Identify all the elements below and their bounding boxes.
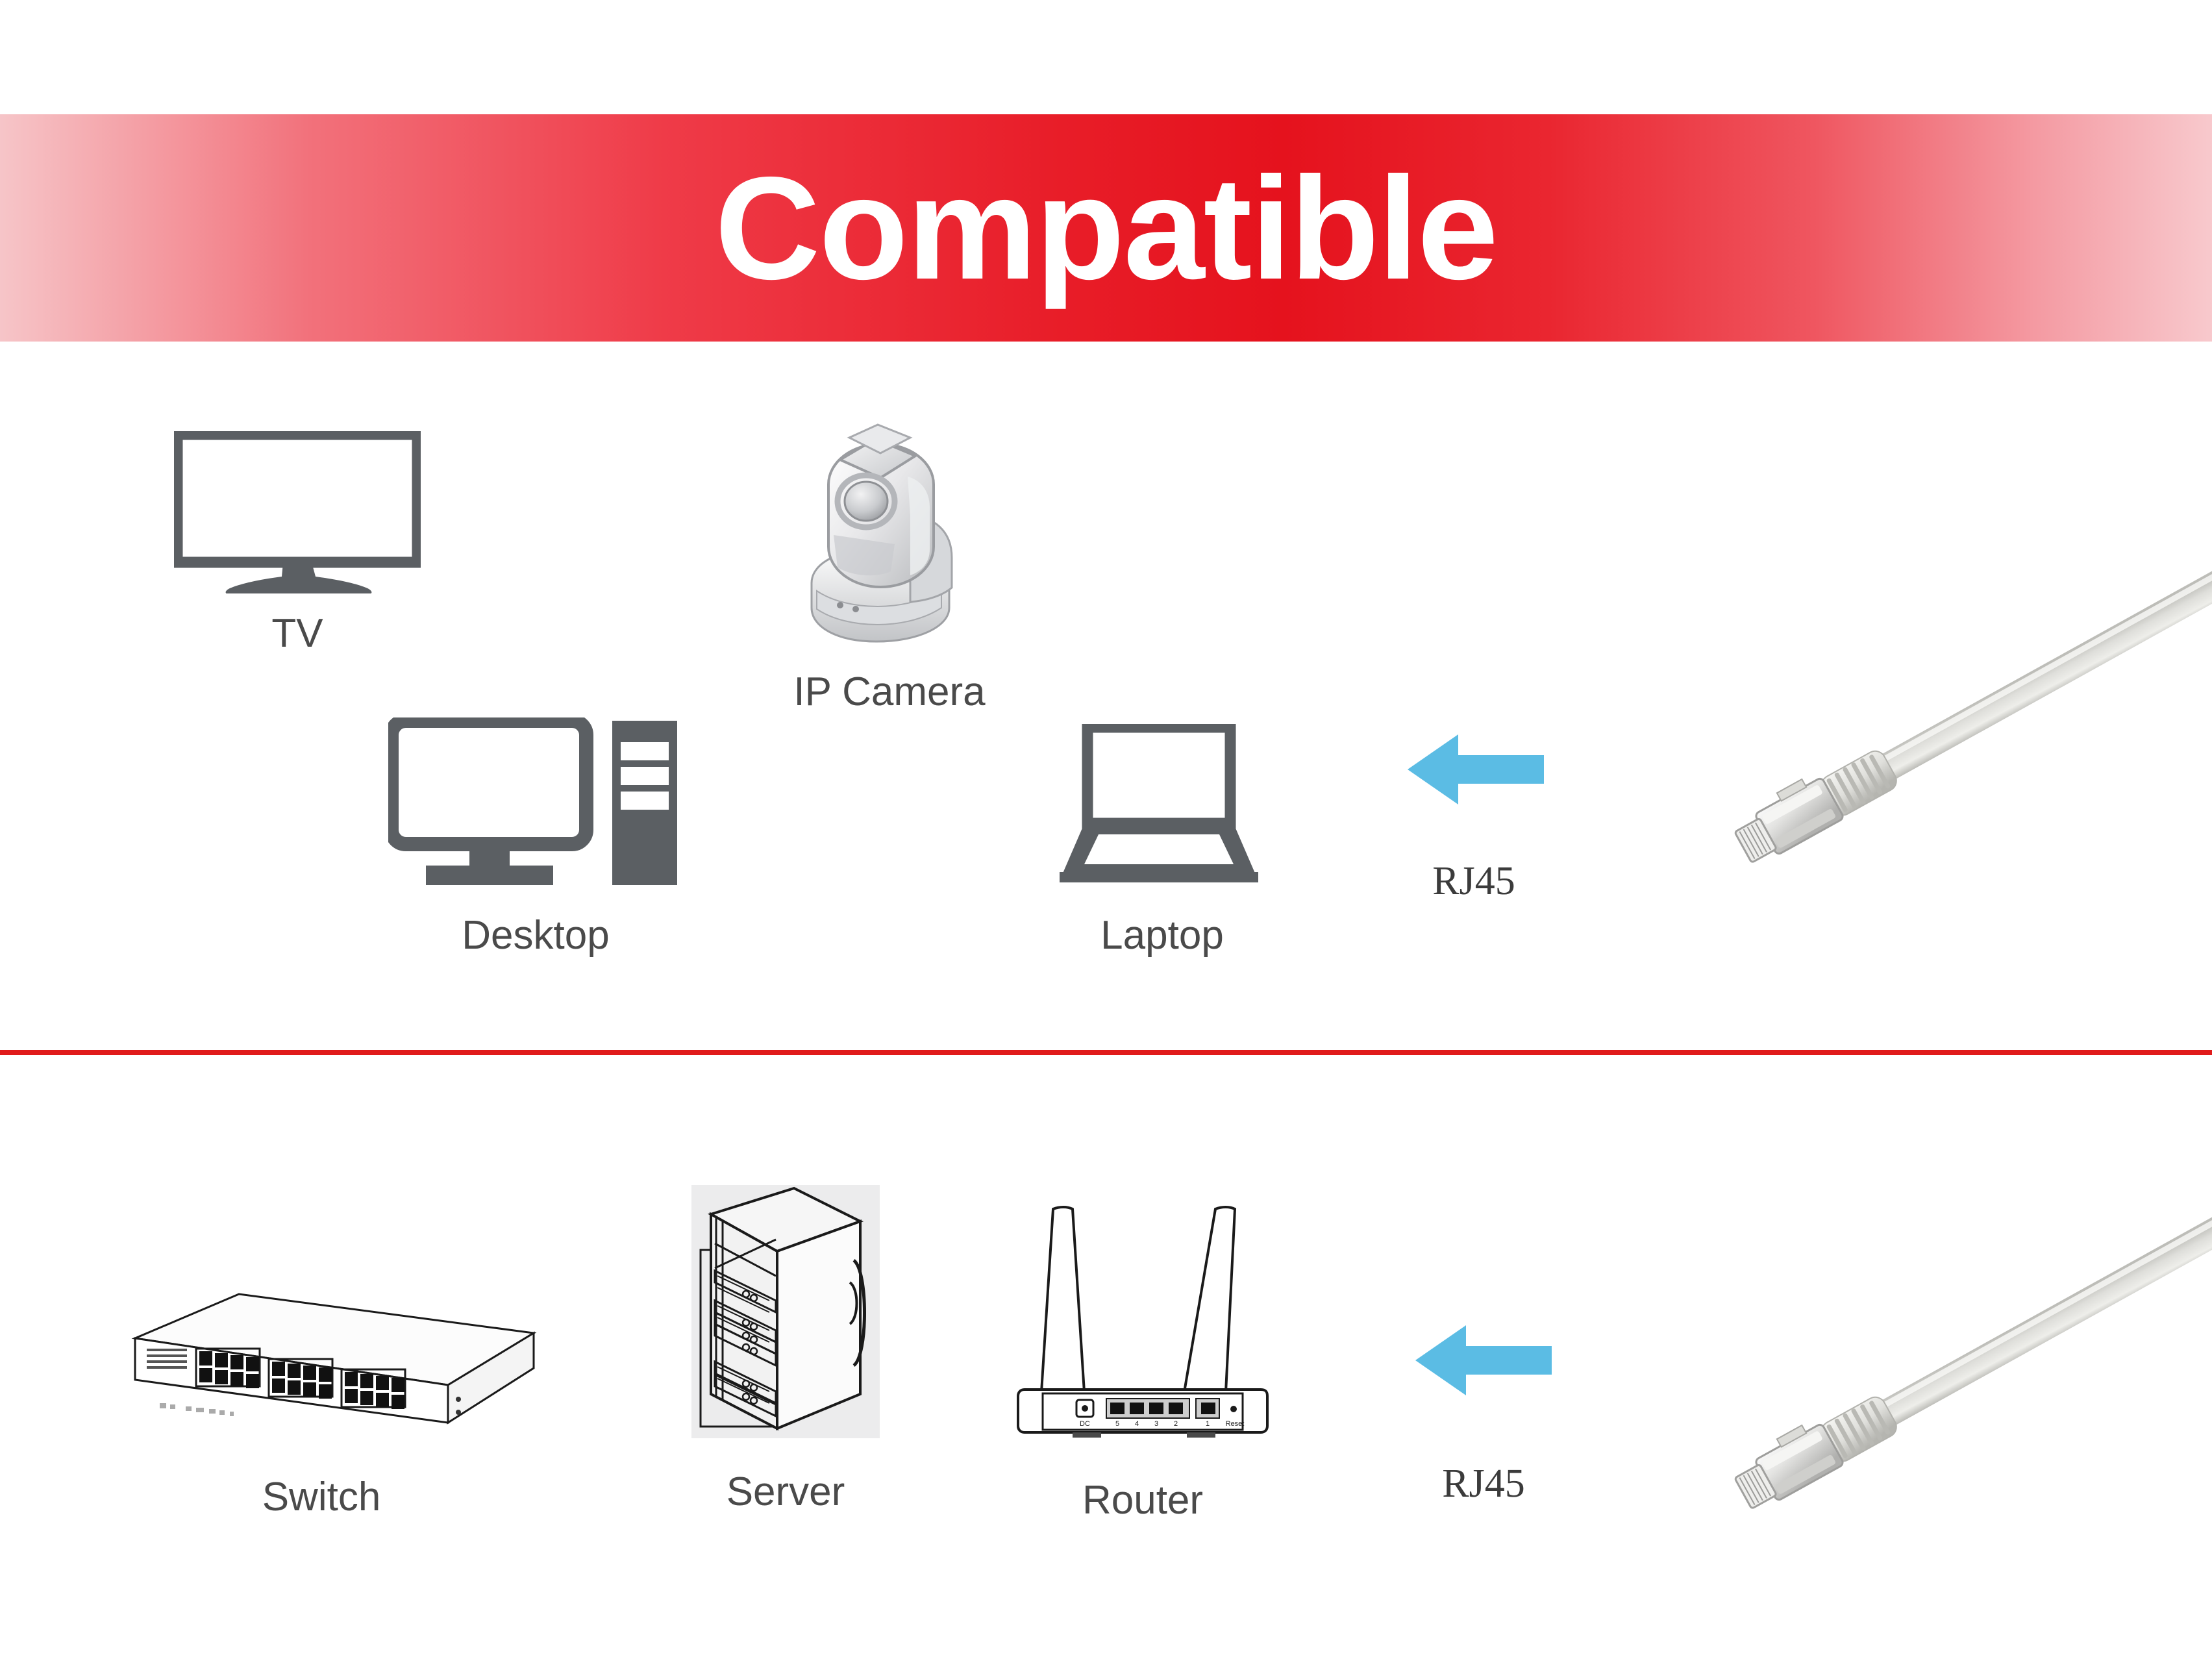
laptop-icon bbox=[1058, 724, 1260, 886]
network-switch-icon bbox=[97, 1276, 545, 1438]
tv-icon bbox=[174, 431, 421, 593]
router-lan-label-5: 5 bbox=[1115, 1420, 1119, 1428]
router-lan-label-2: 2 bbox=[1174, 1420, 1178, 1428]
rj45-label-top: RJ45 bbox=[1389, 858, 1558, 904]
router-dc-label: DC bbox=[1080, 1420, 1090, 1428]
server-rack-icon bbox=[691, 1185, 880, 1438]
arrow-left-icon bbox=[1408, 730, 1544, 808]
page-title: Compatible bbox=[715, 155, 1497, 301]
desktop-label: Desktop bbox=[364, 912, 708, 958]
router-lan-label-3: 3 bbox=[1154, 1420, 1158, 1428]
compatibility-diagram: Compatible TV bbox=[0, 0, 2212, 1659]
router-reset-label: Reset bbox=[1226, 1420, 1245, 1428]
ip-camera-label: IP Camera bbox=[727, 669, 1052, 715]
rj45-cable-icon bbox=[1714, 539, 2212, 870]
arrow-left-icon-bottom bbox=[1415, 1321, 1552, 1399]
server-label: Server bbox=[662, 1469, 909, 1515]
router-lan-label-4: 4 bbox=[1135, 1420, 1139, 1428]
switch-label: Switch bbox=[97, 1474, 545, 1520]
rj45-label-bottom: RJ45 bbox=[1399, 1461, 1568, 1507]
section-divider bbox=[0, 1050, 2212, 1055]
rj45-cable-icon-bottom bbox=[1714, 1185, 2212, 1516]
ip-camera-icon bbox=[793, 421, 982, 645]
banner: Compatible bbox=[0, 114, 2212, 342]
router-label: Router bbox=[1000, 1477, 1286, 1523]
tv-label: TV bbox=[174, 610, 421, 656]
router-lan-label-1: 1 bbox=[1206, 1420, 1210, 1428]
laptop-label: Laptop bbox=[1026, 912, 1299, 958]
wifi-router-icon: DC 5 4 3 2 1 Reset bbox=[1013, 1195, 1273, 1448]
desktop-icon bbox=[388, 717, 680, 893]
